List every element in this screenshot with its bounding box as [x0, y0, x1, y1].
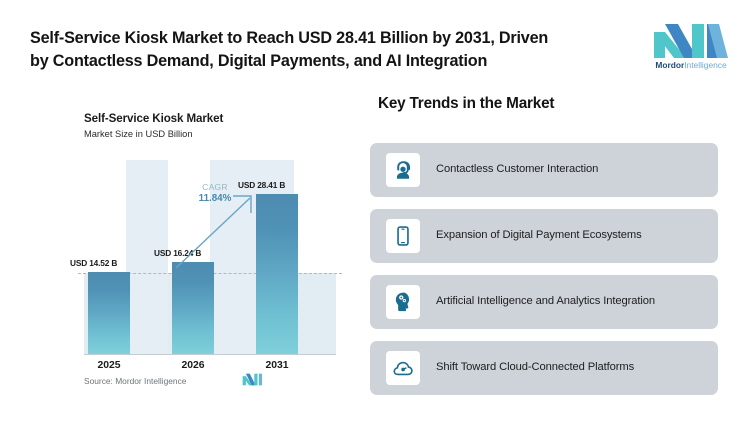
chart-x-axis-line	[84, 354, 336, 355]
chart-source-note: Source: Mordor Intelligence	[84, 376, 186, 386]
source-logo-icon	[242, 373, 264, 386]
header: Self-Service Kiosk Market to Reach USD 2…	[0, 0, 750, 92]
chart-plot-area: USD 14.52 B USD 16.24 B USD 28.41 B CAGR…	[84, 160, 336, 355]
headline-line-1: Self-Service Kiosk Market to Reach USD 2…	[30, 27, 640, 50]
infographic-page: Self-Service Kiosk Market to Reach USD 2…	[0, 0, 750, 425]
chart-subtitle: Market Size in USD Billion	[84, 129, 193, 139]
trend-card-label: Expansion of Digital Payment Ecosystems	[436, 209, 706, 263]
mordor-intelligence-logo: MordorIntelligence	[652, 22, 730, 78]
cagr-growth-arrow-icon	[84, 160, 336, 355]
trend-card-cloud-platforms[interactable]: Shift Toward Cloud-Connected Platforms	[370, 341, 718, 395]
trend-card-label: Shift Toward Cloud-Connected Platforms	[436, 341, 706, 395]
market-size-bar-chart: Self-Service Kiosk Market Market Size in…	[60, 100, 350, 405]
smartphone-icon	[386, 219, 420, 253]
x-tick-2031: 2031	[247, 360, 307, 371]
logo-word-mordor: Mordor	[655, 60, 684, 70]
headline-line-2: by Contactless Demand, Digital Payments,…	[30, 50, 640, 73]
trend-card-digital-payments[interactable]: Expansion of Digital Payment Ecosystems	[370, 209, 718, 263]
trend-card-ai-analytics[interactable]: Artificial Intelligence and Analytics In…	[370, 275, 718, 329]
cloud-icon	[386, 351, 420, 385]
trend-card-label: Artificial Intelligence and Analytics In…	[436, 275, 706, 329]
key-trends-panel: Key Trends in the Market Contactless Cus…	[370, 95, 720, 395]
logo-word-intelligence: Intelligence	[684, 60, 726, 70]
x-tick-2026: 2026	[163, 360, 223, 371]
trends-heading: Key Trends in the Market	[378, 95, 554, 113]
x-tick-2025: 2025	[79, 360, 139, 371]
trend-card-contactless[interactable]: Contactless Customer Interaction	[370, 143, 718, 197]
logo-wordmark: MordorIntelligence	[652, 61, 730, 70]
trend-card-label: Contactless Customer Interaction	[436, 143, 706, 197]
logo-mark-icon	[652, 22, 730, 60]
headset-person-icon	[386, 153, 420, 187]
page-title: Self-Service Kiosk Market to Reach USD 2…	[30, 27, 640, 73]
chart-title: Self-Service Kiosk Market	[84, 112, 223, 125]
ai-head-gears-icon	[386, 285, 420, 319]
